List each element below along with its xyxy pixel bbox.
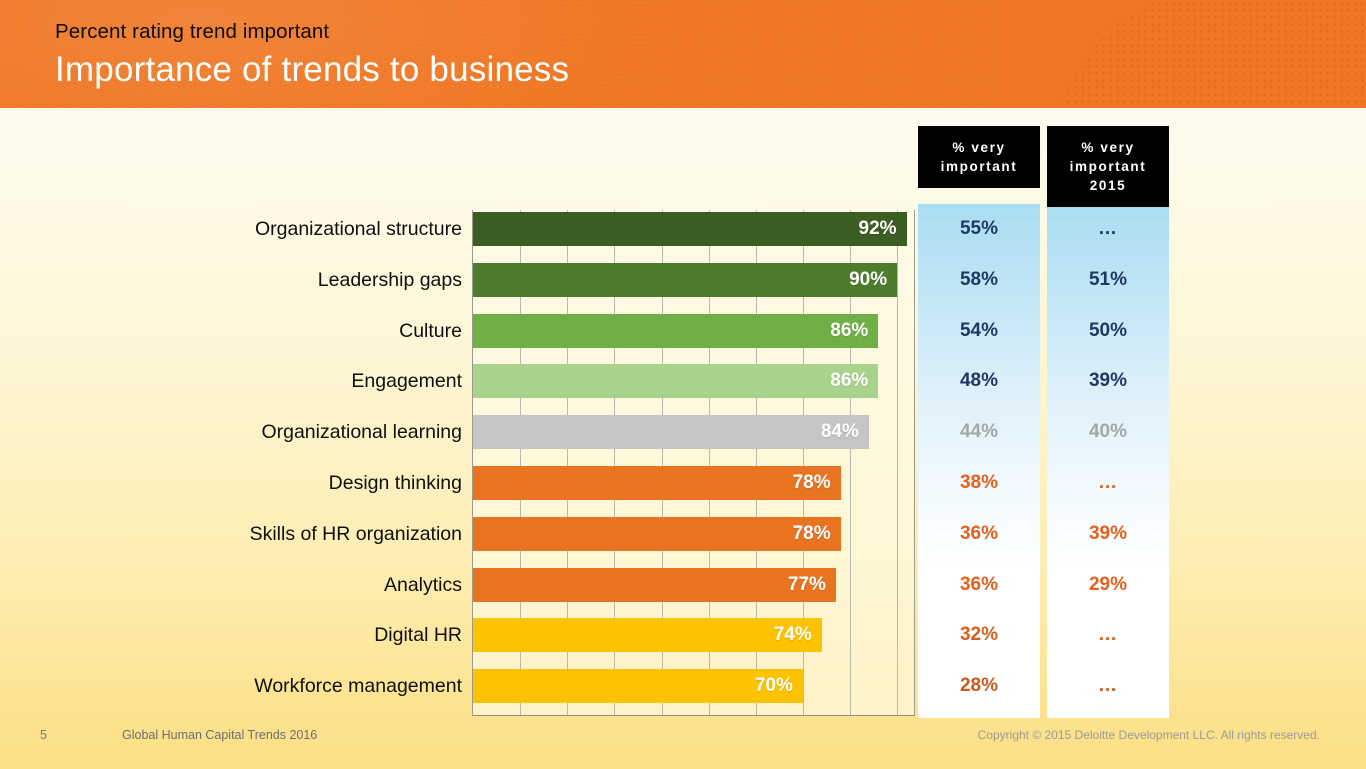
bar-value-label: 78% [793, 472, 841, 494]
value-column-0-header: % very important [918, 126, 1040, 188]
bar-value-label: 70% [755, 675, 803, 697]
bar: 86% [473, 314, 878, 348]
plot-area: 92%90%86%86%84%78%78%77%74%70% [472, 210, 915, 716]
value-cell: 58% [918, 263, 1040, 297]
value-cell: … [1047, 212, 1169, 246]
category-label: Analytics [42, 568, 462, 602]
value-cell: 28% [918, 669, 1040, 703]
bar: 70% [473, 669, 803, 703]
bar-value-label: 74% [774, 624, 822, 646]
bar: 90% [473, 263, 897, 297]
value-cell: 50% [1047, 314, 1169, 348]
bar: 74% [473, 618, 822, 652]
value-cell: … [1047, 618, 1169, 652]
page-number: 5 [40, 728, 47, 742]
gridline [897, 210, 898, 715]
value-cell: 38% [918, 466, 1040, 500]
bar-value-label: 77% [788, 574, 836, 596]
value-cell: 29% [1047, 568, 1169, 602]
bar: 84% [473, 415, 869, 449]
bar-value-label: 84% [821, 421, 869, 443]
bar: 77% [473, 568, 836, 602]
copyright-text: Copyright © 2015 Deloitte Development LL… [978, 728, 1320, 742]
value-cell: 32% [918, 618, 1040, 652]
category-axis-labels: Organizational structureLeadership gapsC… [42, 108, 462, 718]
value-cell: 44% [918, 415, 1040, 449]
bar-value-label: 86% [830, 370, 878, 392]
bar-value-label: 78% [793, 523, 841, 545]
category-label: Organizational learning [42, 415, 462, 449]
value-cell: 51% [1047, 263, 1169, 297]
value-cell: 36% [918, 568, 1040, 602]
value-column-1-body: …51%50%39%40%…39%29%…… [1047, 204, 1169, 718]
slide-footer: 5 Global Human Capital Trends 2016 Copyr… [0, 718, 1366, 769]
category-label: Engagement [42, 364, 462, 398]
slide-title: Importance of trends to business [55, 50, 569, 90]
slide-subtitle: Percent rating trend important [55, 20, 329, 44]
category-label: Skills of HR organization [42, 517, 462, 551]
category-label: Design thinking [42, 466, 462, 500]
category-label: Culture [42, 314, 462, 348]
bar: 78% [473, 517, 841, 551]
value-cell: 36% [918, 517, 1040, 551]
category-label: Digital HR [42, 618, 462, 652]
bar: 78% [473, 466, 841, 500]
value-column-1-header: % very important 2015 [1047, 126, 1169, 207]
header-dot-pattern [806, 0, 1366, 108]
value-cell: 55% [918, 212, 1040, 246]
value-cell: 39% [1047, 517, 1169, 551]
slide-header: Percent rating trend important Importanc… [0, 0, 1366, 108]
category-label: Workforce management [42, 669, 462, 703]
value-cell: … [1047, 466, 1169, 500]
value-column-0-body: 55%58%54%48%44%38%36%36%32%28% [918, 204, 1040, 718]
value-cell: 54% [918, 314, 1040, 348]
category-label: Leadership gaps [42, 263, 462, 297]
category-label: Organizational structure [42, 212, 462, 246]
bar: 92% [473, 212, 907, 246]
value-cell: … [1047, 669, 1169, 703]
value-cell: 40% [1047, 415, 1169, 449]
bar-value-label: 92% [859, 218, 907, 240]
value-cell: 48% [918, 364, 1040, 398]
bar-chart: Organizational structureLeadership gapsC… [0, 108, 1366, 718]
value-cell: 39% [1047, 364, 1169, 398]
bar-value-label: 90% [849, 269, 897, 291]
bar-value-label: 86% [830, 320, 878, 342]
bar: 86% [473, 364, 878, 398]
footer-source: Global Human Capital Trends 2016 [122, 728, 317, 742]
